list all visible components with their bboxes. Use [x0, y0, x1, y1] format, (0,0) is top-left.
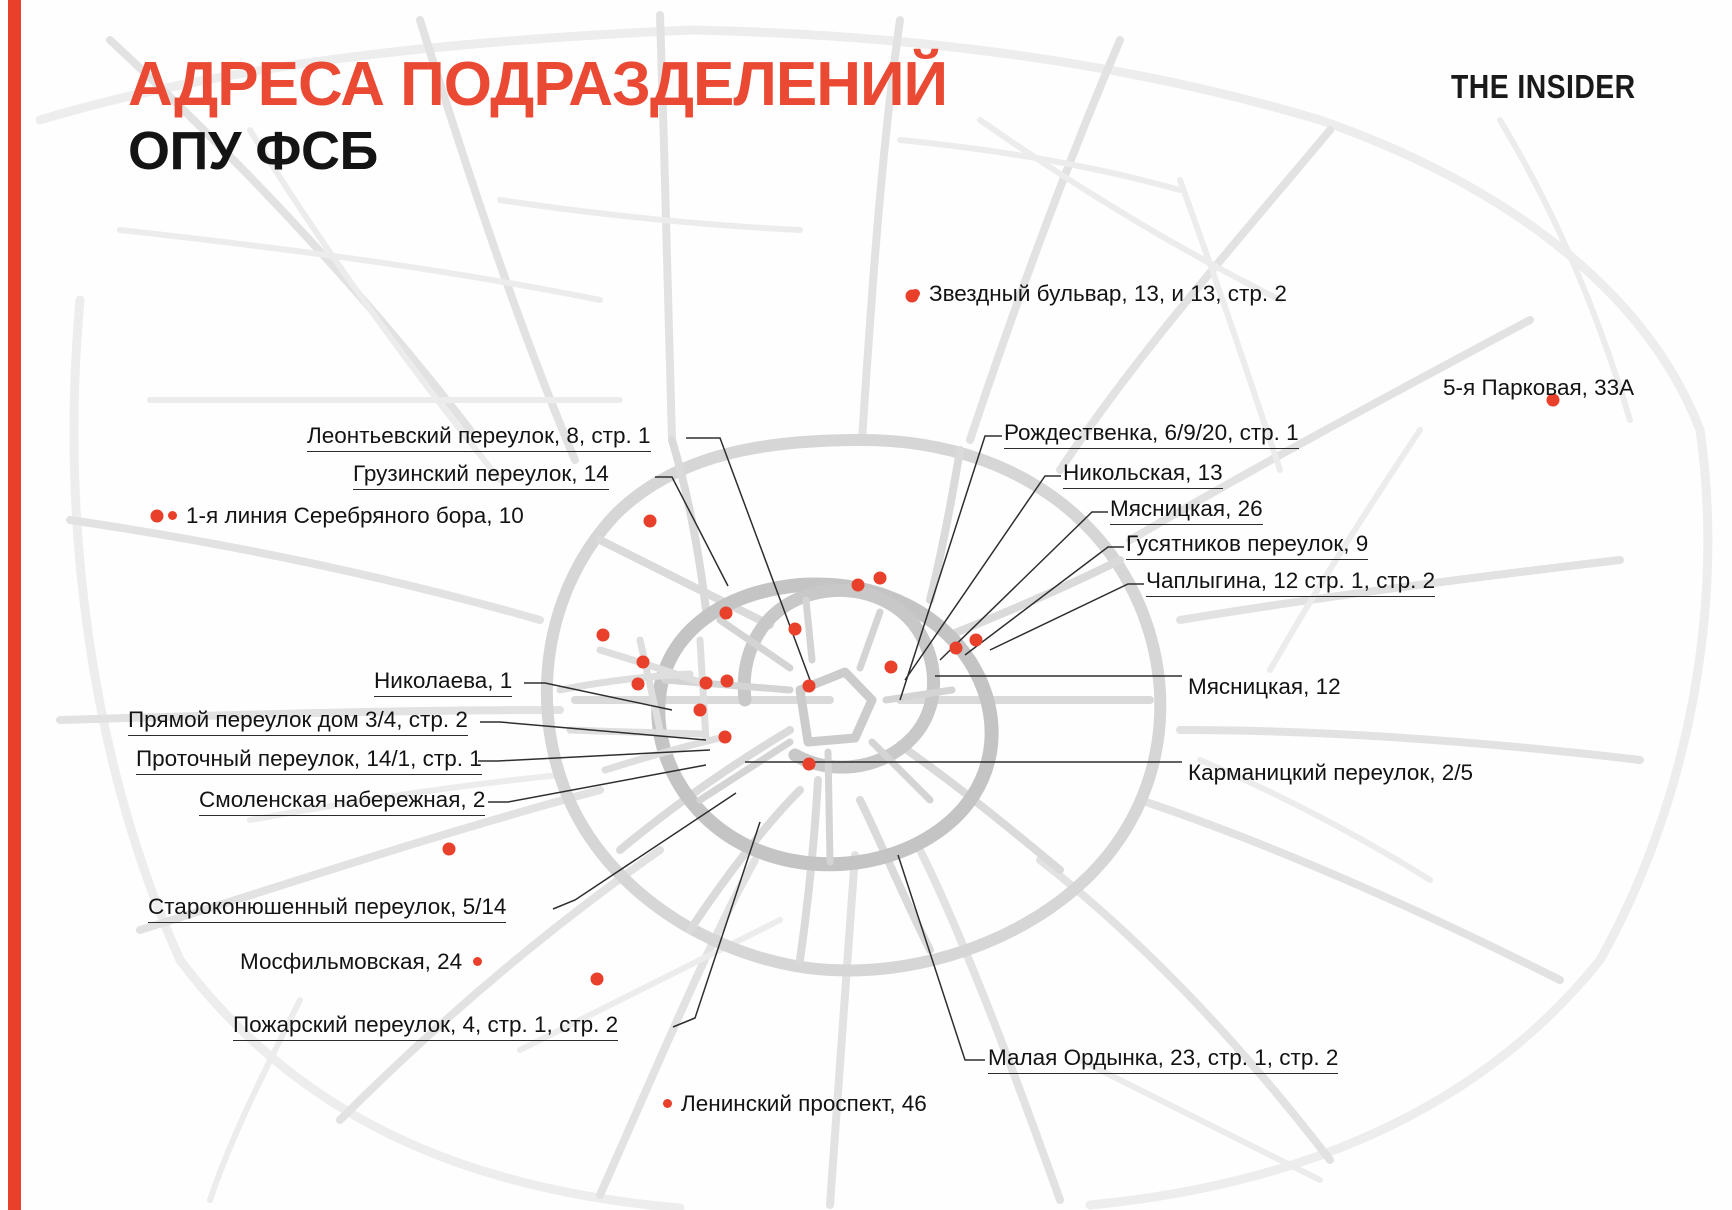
page-header: АДРЕСА ПОДРАЗДЕЛЕНИЙ ОПУ ФСБ	[128, 52, 947, 181]
marker-dot-icon	[663, 1099, 672, 1108]
address-label-gruzinsky[interactable]: Грузинский переулок, 14	[353, 463, 609, 490]
address-label-rozhdestvenka[interactable]: Рождественка, 6/9/20, стр. 1	[1004, 422, 1299, 449]
marker-leninsky[interactable]	[591, 973, 604, 986]
leader-gusyatnikov	[965, 547, 1124, 655]
page-title: АДРЕСА ПОДРАЗДЕЛЕНИЙ	[128, 52, 947, 118]
leader-starokonyushenny	[553, 793, 736, 909]
address-label-karmanitsky[interactable]: Карманицкий переулок, 2/5	[1188, 762, 1473, 785]
address-label-nikolskaya[interactable]: Никольская, 13	[1063, 462, 1223, 489]
marker-dot-c[interactable]	[885, 661, 898, 674]
marker-dot-icon	[911, 289, 920, 298]
marker-serebryany-bor[interactable]	[151, 510, 164, 523]
marker-mosfilmovskaya[interactable]	[443, 843, 456, 856]
leader-myasnitskaya-26	[940, 512, 1108, 660]
infographic-page: АДРЕСА ПОДРАЗДЕЛЕНИЙ ОПУ ФСБ THE INSIDER…	[0, 0, 1732, 1210]
marker-dot-g[interactable]	[720, 607, 733, 620]
address-label-text: Чаплыгина, 12 стр. 1, стр. 2	[1146, 570, 1435, 597]
marker-dot-e[interactable]	[970, 634, 983, 647]
address-label-text: Ленинский проспект, 46	[681, 1093, 927, 1116]
leader-smolenskaya	[488, 765, 706, 802]
address-label-text: Малая Ордынка, 23, стр. 1, стр. 2	[988, 1047, 1338, 1074]
address-label-leontievsky[interactable]: Леонтьевский переулок, 8, стр. 1	[307, 425, 651, 452]
address-label-smolenskaya[interactable]: Смоленская набережная, 2	[199, 789, 485, 816]
the-insider-logo: THE INSIDER	[1452, 68, 1636, 106]
marker-dot-l[interactable]	[700, 677, 713, 690]
marker-dot-n[interactable]	[637, 656, 650, 669]
address-label-text: Грузинский переулок, 14	[353, 463, 609, 490]
address-label-starokonyushenny[interactable]: Староконюшенный переулок, 5/14	[148, 896, 506, 923]
address-label-zvezdny[interactable]: Звездный бульвар, 13, и 13, стр. 2	[911, 283, 1287, 306]
marker-dot-o[interactable]	[694, 704, 707, 717]
marker-dot-j[interactable]	[874, 572, 887, 585]
address-label-text: Звездный бульвар, 13, и 13, стр. 2	[929, 283, 1287, 306]
address-label-mosfilmovskaya[interactable]: Мосфильмовская, 24	[240, 951, 482, 974]
address-label-chaplygina[interactable]: Чаплыгина, 12 стр. 1, стр. 2	[1146, 570, 1435, 597]
marker-dot-icon	[168, 511, 177, 520]
marker-dot-h[interactable]	[789, 623, 802, 636]
address-label-text: Смоленская набережная, 2	[199, 789, 485, 816]
leader-pozharsky	[673, 822, 760, 1027]
address-label-pozharsky[interactable]: Пожарский переулок, 4, стр. 1, стр. 2	[233, 1014, 618, 1041]
page-subtitle: ОПУ ФСБ	[128, 122, 947, 181]
marker-dot-i[interactable]	[852, 579, 865, 592]
address-label-leninsky[interactable]: Ленинский проспект, 46	[663, 1093, 927, 1116]
marker-dot-icon	[473, 957, 482, 966]
address-label-text: Мосфильмовская, 24	[240, 951, 462, 974]
leader-gruzinsky	[655, 477, 728, 586]
address-label-malaya-ordynka[interactable]: Малая Ордынка, 23, стр. 1, стр. 2	[988, 1047, 1338, 1074]
address-label-text: Гусятников переулок, 9	[1126, 533, 1368, 560]
address-label-text: Пожарский переулок, 4, стр. 1, стр. 2	[233, 1014, 618, 1041]
marker-dot-f[interactable]	[644, 515, 657, 528]
leader-nikolskaya	[905, 476, 1061, 680]
leader-malaya-ordynka	[898, 855, 985, 1060]
leader-leontievsky	[686, 438, 810, 680]
leader-pryamoy	[480, 722, 706, 740]
address-label-myasnitskaya-26[interactable]: Мясницкая, 26	[1110, 498, 1263, 525]
address-label-text: Никольская, 13	[1063, 462, 1223, 489]
leader-nikolaeva	[524, 683, 672, 710]
address-label-text: Карманицкий переулок, 2/5	[1188, 762, 1473, 785]
leader-protochny	[478, 750, 710, 761]
leader-lines	[478, 436, 1182, 1060]
marker-dot-b[interactable]	[803, 680, 816, 693]
address-label-text: Мясницкая, 26	[1110, 498, 1263, 525]
marker-dot-q[interactable]	[803, 758, 816, 771]
address-label-text: Леонтьевский переулок, 8, стр. 1	[307, 425, 651, 452]
address-label-text: 1-я линия Серебряного бора, 10	[186, 505, 524, 528]
address-label-text: Рождественка, 6/9/20, стр. 1	[1004, 422, 1299, 449]
marker-dot-k[interactable]	[597, 629, 610, 642]
marker-dot-p[interactable]	[719, 731, 732, 744]
address-label-myasnitskaya-12[interactable]: Мясницкая, 12	[1188, 676, 1341, 699]
address-label-text: Староконюшенный переулок, 5/14	[148, 896, 506, 923]
leader-chaplygina	[990, 584, 1144, 650]
address-label-text: Прямой переулок дом 3/4, стр. 2	[128, 709, 468, 736]
address-label-protochny[interactable]: Проточный переулок, 14/1, стр. 1	[136, 748, 482, 775]
address-label-parkovaya[interactable]: 5-я Парковая, 33А	[1443, 377, 1634, 400]
address-label-text: Мясницкая, 12	[1188, 676, 1341, 699]
address-label-text: Проточный переулок, 14/1, стр. 1	[136, 748, 482, 775]
marker-dot-m[interactable]	[632, 678, 645, 691]
leader-rozhdestvenka	[900, 436, 1002, 700]
marker-dot-d[interactable]	[950, 642, 963, 655]
address-label-text: Николаева, 1	[374, 670, 512, 697]
marker-dot-a[interactable]	[721, 675, 734, 688]
address-label-text: 5-я Парковая, 33А	[1443, 377, 1634, 400]
address-label-pryamoy[interactable]: Прямой переулок дом 3/4, стр. 2	[128, 709, 468, 736]
map-markers	[151, 290, 1560, 986]
address-label-serebryany-bor[interactable]: 1-я линия Серебряного бора, 10	[168, 505, 524, 528]
address-label-nikolaeva[interactable]: Николаева, 1	[374, 670, 512, 697]
address-label-gusyatnikov[interactable]: Гусятников переулок, 9	[1126, 533, 1368, 560]
